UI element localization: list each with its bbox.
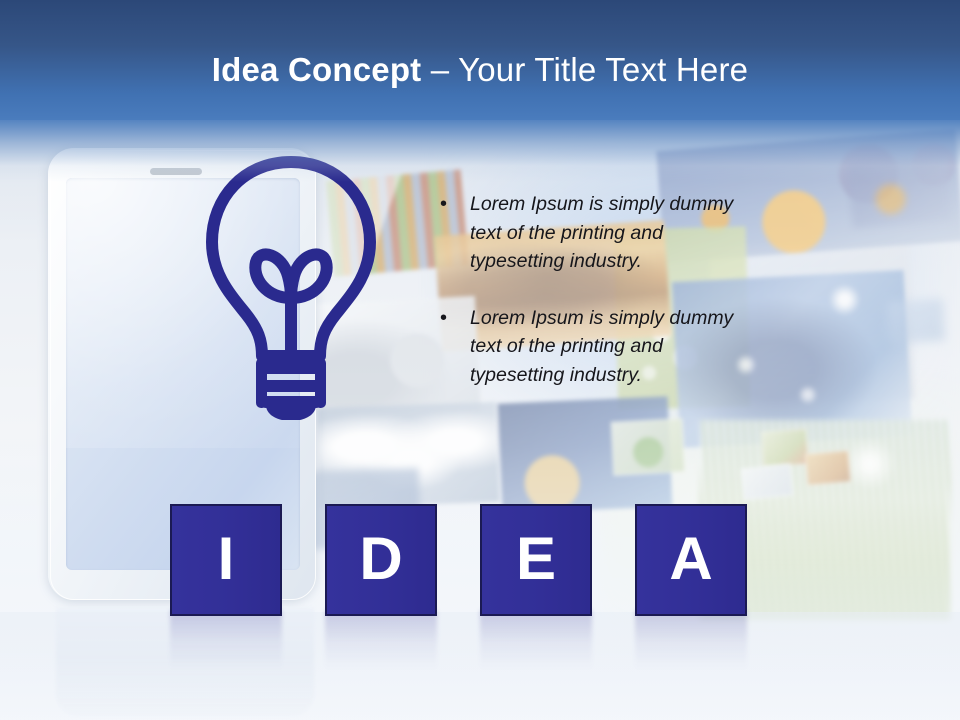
bullet-marker-icon: • bbox=[434, 304, 470, 332]
bullet-text: Lorem Ipsum is simply dummy text of the … bbox=[470, 304, 754, 390]
list-item: • Lorem Ipsum is simply dummy text of th… bbox=[434, 190, 754, 276]
page-title-strong: Idea Concept bbox=[212, 51, 422, 88]
cube-letter-d: D bbox=[325, 504, 437, 616]
idea-cubes-group: I D E A bbox=[160, 468, 800, 628]
cube-letter-a: A bbox=[635, 504, 747, 616]
cube-letter-e: E bbox=[480, 504, 592, 616]
slide-canvas: • Lorem Ipsum is simply dummy text of th… bbox=[0, 0, 960, 720]
bullet-marker-icon: • bbox=[434, 190, 470, 218]
page-title: Idea Concept – Your Title Text Here bbox=[0, 50, 960, 90]
list-item: • Lorem Ipsum is simply dummy text of th… bbox=[434, 304, 754, 390]
cube-letter-text: E bbox=[480, 504, 592, 616]
cube-letter-text: I bbox=[170, 504, 282, 616]
bullet-text: Lorem Ipsum is simply dummy text of the … bbox=[470, 190, 754, 276]
header-fade bbox=[0, 120, 960, 182]
bullet-list: • Lorem Ipsum is simply dummy text of th… bbox=[434, 190, 754, 417]
cube-letter-i: I bbox=[170, 504, 282, 616]
lightbulb-icon bbox=[196, 150, 386, 420]
cube-letter-text: A bbox=[635, 504, 747, 616]
page-title-light: – Your Title Text Here bbox=[421, 51, 748, 88]
cube-letter-text: D bbox=[325, 504, 437, 616]
